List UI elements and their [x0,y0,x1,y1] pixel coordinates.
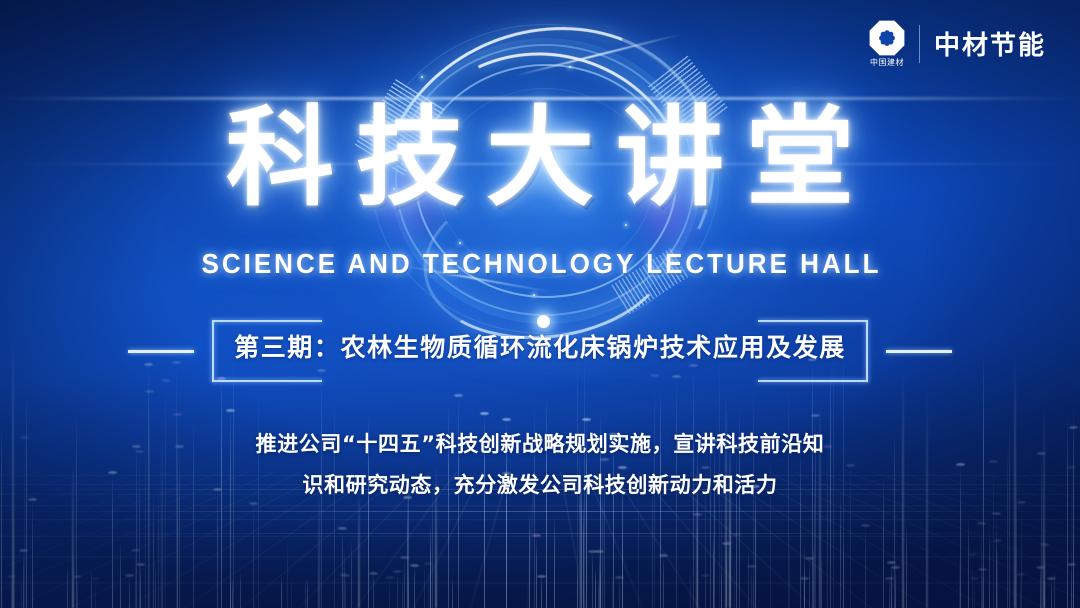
octagon-flower-logo-icon [869,20,905,56]
poster-canvas: 中国建材 中材节能 科技大讲堂 SCIENCE AND TECHNOLOGY L… [0,0,1080,608]
logo-mark: 中国建材 [869,20,905,67]
logo-caption: 中国建材 [870,59,904,67]
brand-lockup: 中国建材 中材节能 [869,20,1046,67]
description-line-1: 推进公司“十四五”科技创新战略规划实施，宣讲科技前沿知 [0,424,1080,465]
page-title: 科技大讲堂 [0,105,1080,213]
page-subtitle-english: SCIENCE AND TECHNOLOGY LECTURE HALL [38,250,1042,278]
bracket-node-dot [537,315,550,328]
bracket-left-bottom [212,380,322,382]
session-title: 第三期：农林生物质循环流化床锅炉技术应用及发展 [0,332,1080,365]
bracket-right-top [758,320,868,322]
brand-divider [919,25,920,63]
bracket-right-bottom [758,380,868,382]
bracket-left-top [212,320,322,322]
company-name: 中材节能 [934,25,1046,62]
session-banner: 第三期：农林生物质循环流化床锅炉技术应用及发展 [0,312,1080,388]
description-line-2: 识和研究动态，充分激发公司科技创新动力和活力 [0,465,1080,506]
description-block: 推进公司“十四五”科技创新战略规划实施，宣讲科技前沿知 识和研究动态，充分激发公… [0,424,1080,506]
